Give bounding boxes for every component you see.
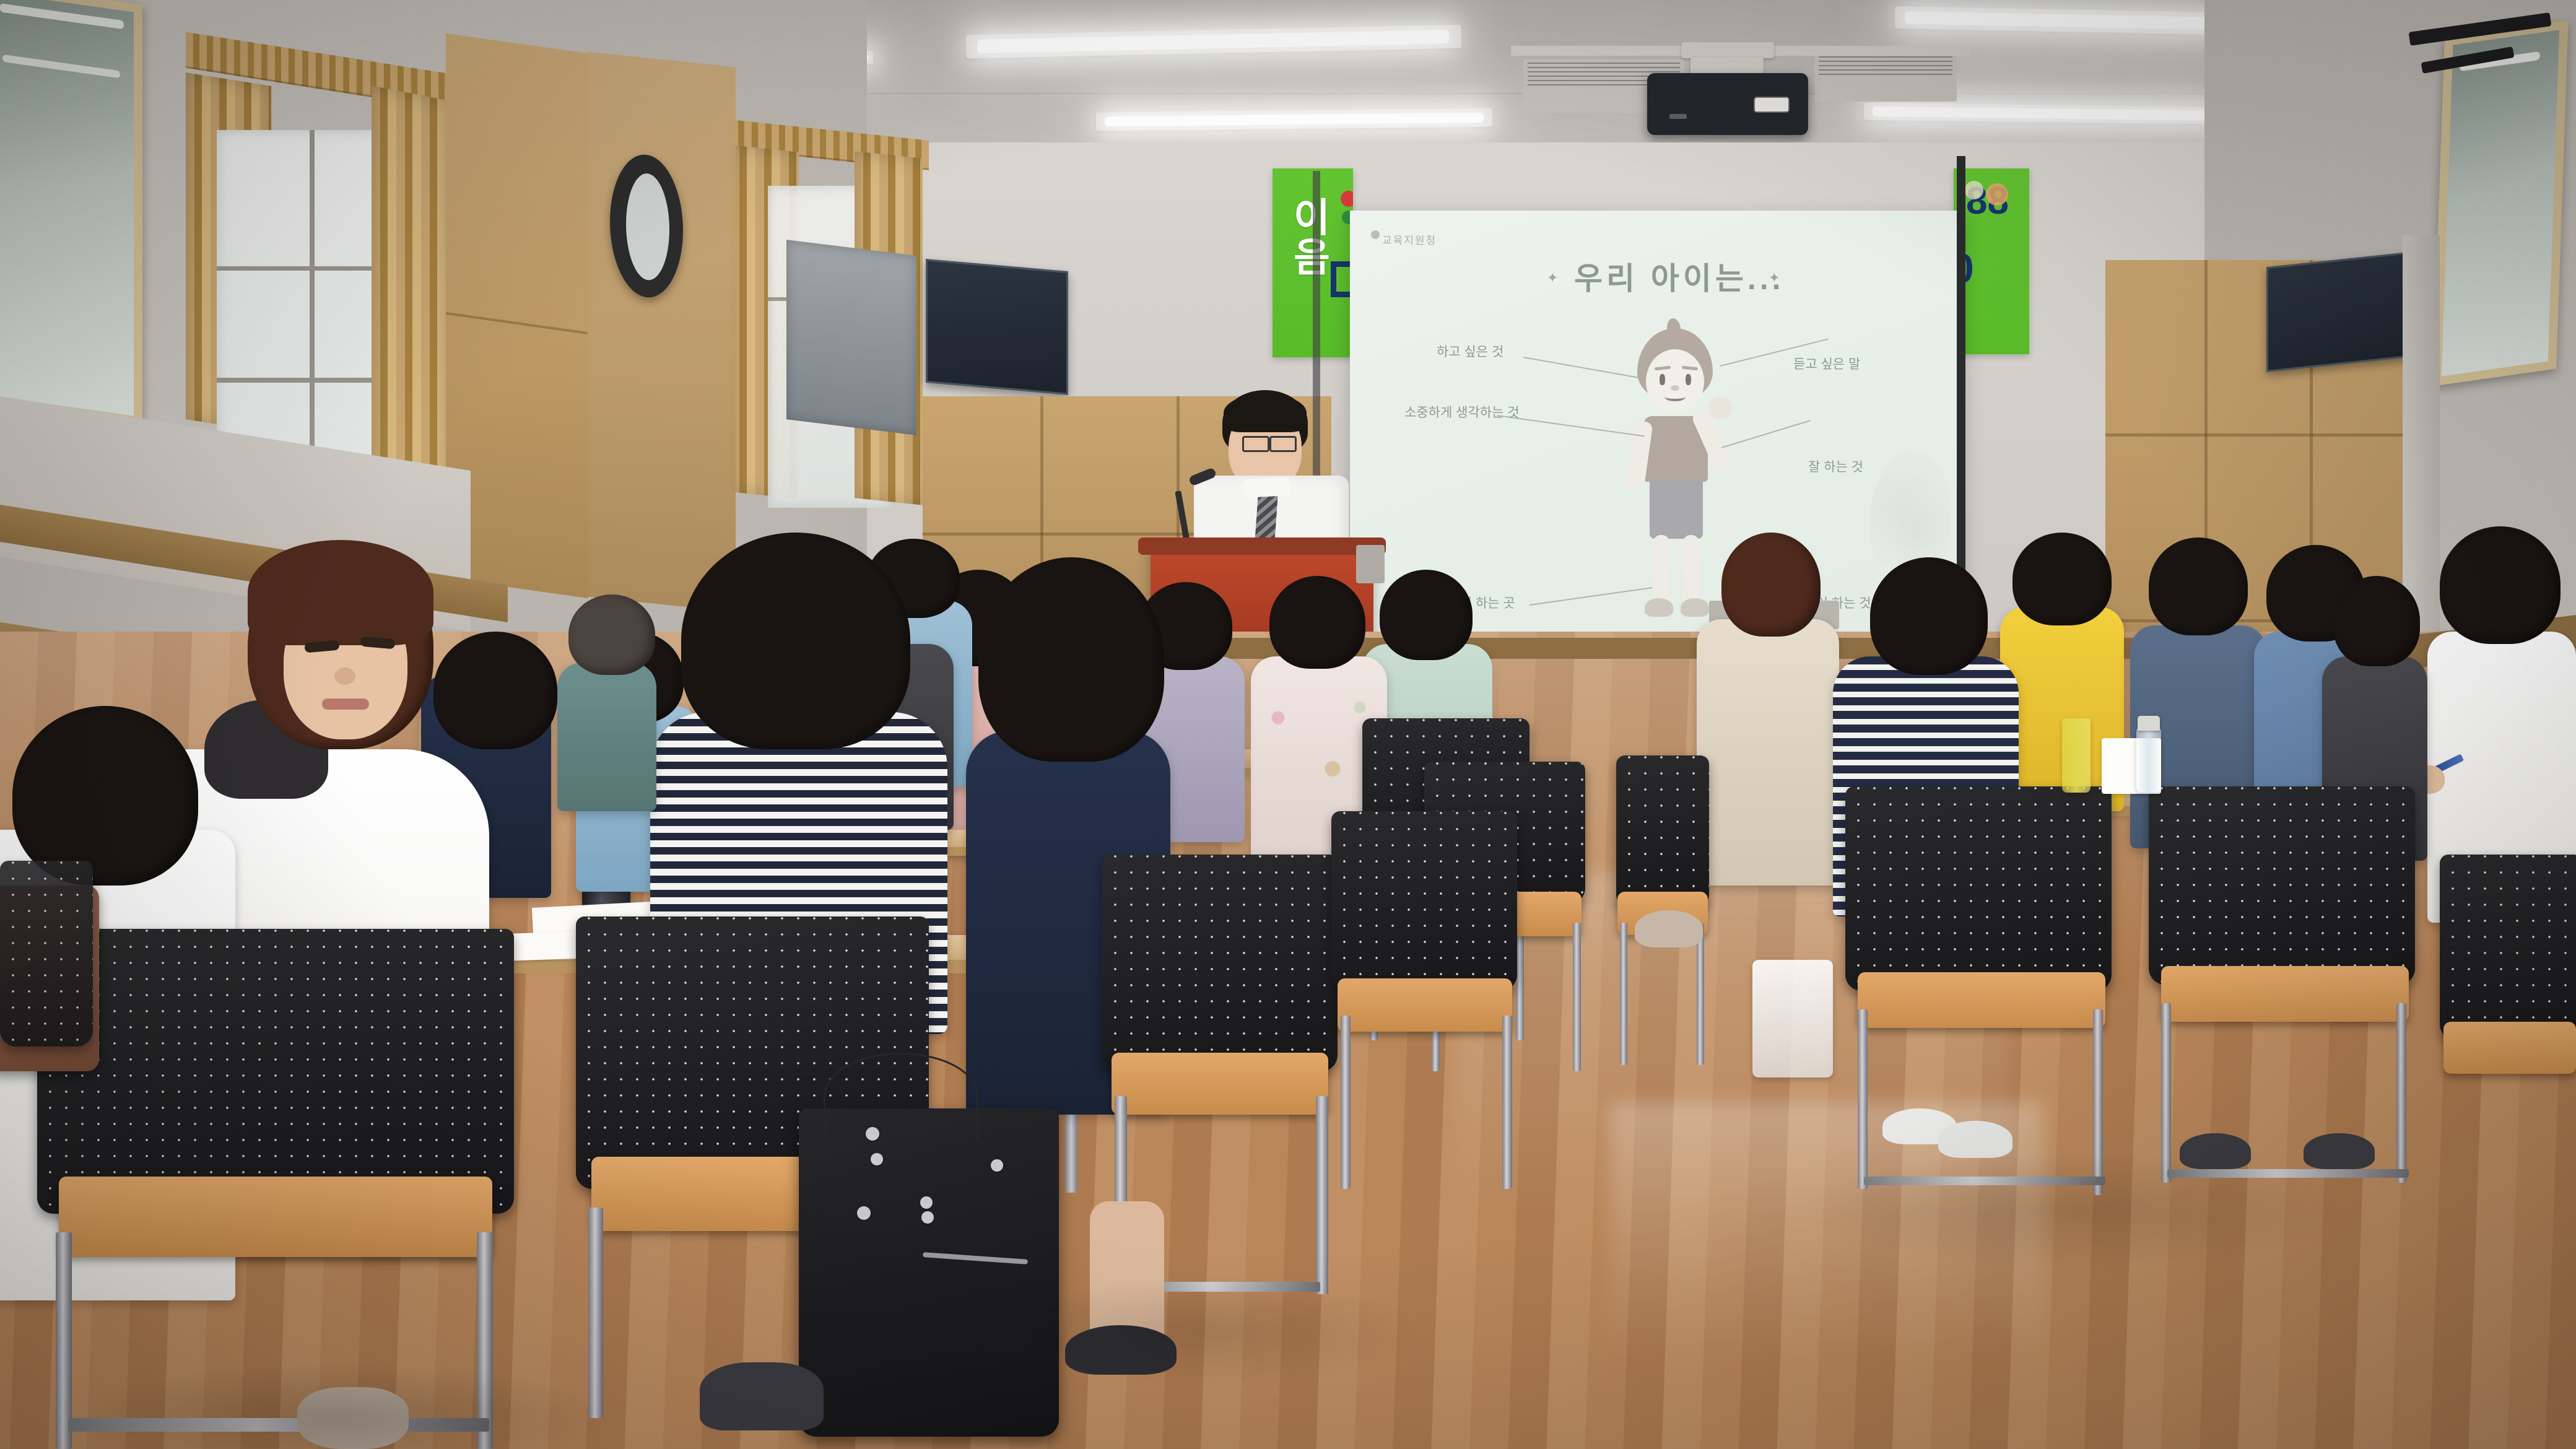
bag-zipper	[923, 1252, 1028, 1264]
plastic-shopping-bag[interactable]	[1752, 960, 1833, 1077]
chair-back[interactable]	[1616, 755, 1709, 910]
chair-back[interactable]	[2149, 786, 2415, 985]
air-vent-grille	[1814, 53, 1957, 102]
child-leg-left	[1653, 535, 1669, 604]
attendee-torso	[557, 663, 656, 811]
attendee-nose	[334, 668, 355, 685]
slide-logo-mark	[1371, 230, 1380, 239]
seminar-room-photo: 이음 88 0 교육지원청 ✦ 우리 아이는... ✦	[0, 0, 2576, 1449]
attendee-hair	[2012, 533, 2112, 625]
handbag-strap[interactable]	[824, 1053, 978, 1139]
slide-star-right: ✦	[1769, 270, 1780, 286]
speaker-collar	[1244, 477, 1289, 498]
curtain-right[interactable]	[372, 85, 446, 496]
attendee-hair	[12, 706, 198, 885]
artwork-image-right	[2442, 30, 2559, 376]
floor-shadow	[991, 1276, 1424, 1387]
chair-seat[interactable]	[1338, 978, 1512, 1032]
chair-back[interactable]	[2440, 855, 2576, 1040]
wall-wood-panel	[587, 51, 736, 612]
speaker-glasses	[1269, 436, 1297, 452]
attendee-hair	[2440, 526, 2561, 644]
attendee-hair	[1269, 576, 1365, 669]
slide-star-left: ✦	[1547, 270, 1558, 286]
attendee-hair-top	[248, 540, 433, 645]
chair-back[interactable]	[1845, 786, 2112, 991]
attendee-hair	[2333, 576, 2420, 666]
slide-child-figure	[1616, 328, 1734, 638]
child-shoe-right	[1681, 598, 1709, 617]
slide-label-2: 소중하게 생각하는 것	[1404, 402, 1520, 421]
projector-lens	[1754, 97, 1790, 113]
attendee-hair	[1870, 557, 1988, 675]
chair-back[interactable]	[0, 861, 93, 1046]
attendee-mouth	[322, 698, 369, 710]
wood-seam	[2105, 433, 2403, 437]
child-eye-right	[1686, 374, 1691, 385]
chair-seat[interactable]	[1112, 1053, 1328, 1115]
child-face	[1646, 349, 1704, 414]
attendee-hair	[1721, 533, 1821, 637]
slide-label-1: 듣고 싶은 말	[1793, 354, 1860, 373]
chair-seat[interactable]	[2161, 966, 2409, 1022]
chair-leg	[1341, 1016, 1351, 1189]
child-shorts	[1650, 479, 1703, 539]
attendee-hair	[433, 632, 557, 749]
speaker-glasses	[1242, 436, 1269, 452]
handbag[interactable]	[799, 1108, 1059, 1437]
chair-leg	[1620, 923, 1627, 1065]
floor-shadow	[62, 1362, 619, 1449]
projector	[1647, 73, 1808, 135]
wall-display-left[interactable]	[926, 259, 1068, 395]
chair-back-foreground[interactable]	[37, 929, 514, 1214]
chair-leg	[1316, 1096, 1328, 1294]
projector-mount-plate	[1681, 42, 1774, 58]
attendee-hair	[1380, 570, 1473, 660]
screen-bracket	[1356, 545, 1385, 583]
chair-seat[interactable]	[2443, 1022, 2576, 1074]
bottle-cap[interactable]	[2138, 716, 2160, 731]
water-bottle[interactable]	[2136, 728, 2161, 793]
shoe-foreground	[700, 1362, 824, 1430]
child-hand-waving	[1709, 398, 1731, 419]
attendee-torso	[1697, 619, 1839, 885]
chair-leg	[1573, 923, 1581, 1071]
chair-leg	[2396, 1003, 2406, 1183]
chair-seat[interactable]	[59, 1177, 492, 1257]
attendee-hair	[2149, 537, 2248, 635]
slide-title: 우리 아이는...	[1574, 254, 1785, 298]
slide-label-0: 하고 싶은 것	[1437, 342, 1503, 360]
leader-line	[1721, 420, 1811, 448]
chair-back[interactable]	[1331, 811, 1517, 991]
child-hair-tuft	[1666, 318, 1681, 340]
child-leg-right	[1683, 535, 1699, 604]
attendee-hair	[978, 557, 1164, 762]
chair-back[interactable]	[1102, 855, 1338, 1071]
chair-leg	[1697, 923, 1704, 1065]
attendee-hair	[681, 533, 910, 749]
wall-display-right[interactable]	[2266, 251, 2421, 372]
artwork-frame-left	[0, 0, 142, 426]
child-mouth	[1664, 393, 1686, 401]
child-eye-left	[1660, 374, 1665, 385]
floor-shadow	[1796, 1152, 2353, 1269]
slide-label-3: 잘 하는 것	[1808, 457, 1863, 476]
speaker-hair-top	[1224, 394, 1307, 432]
artwork-frame-right	[2432, 20, 2568, 386]
podium-top-surface	[1138, 537, 1386, 555]
attendee-hair	[568, 594, 655, 675]
chair-seat[interactable]	[1858, 972, 2105, 1028]
chair-leg	[1502, 1016, 1512, 1189]
slide-logo-text: 교육지원청	[1382, 232, 1437, 247]
beverage-bottle[interactable]	[2062, 718, 2091, 793]
child-nose	[1671, 385, 1679, 391]
shoe	[1635, 910, 1703, 947]
child-shoe-left	[1645, 598, 1673, 617]
wall-fixture-left	[786, 240, 916, 435]
